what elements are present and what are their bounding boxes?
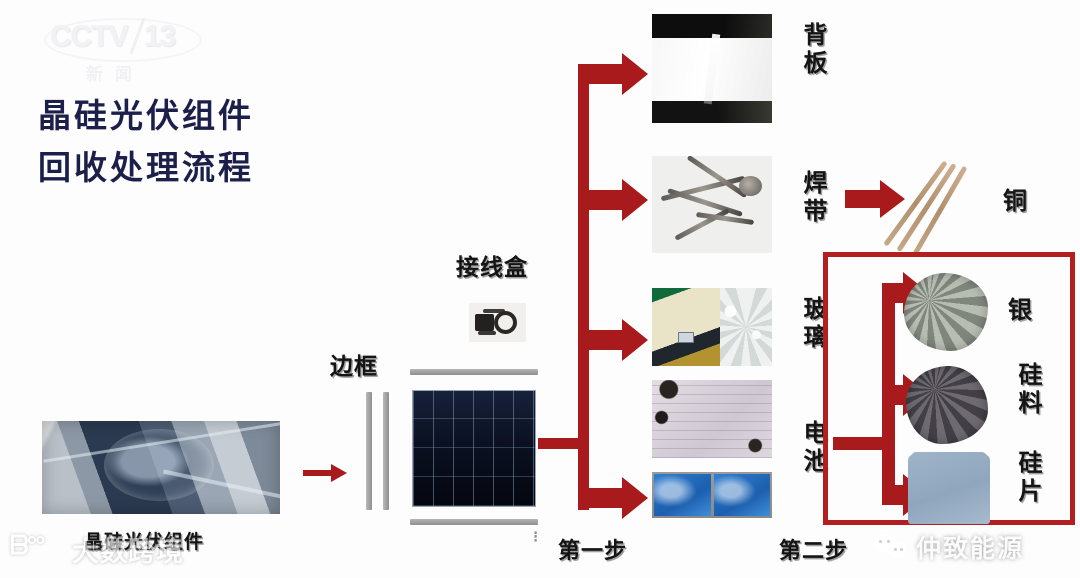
wechat-dot [887,540,890,543]
blue-cells-photo [652,472,772,518]
slide-canvas: CCTV 13 新闻 晶硅光伏组件 回收处理流程 晶硅光伏组件 [0,0,1080,578]
pv-module-photo [412,390,536,507]
watermark-left: ᗷ°° 大数跨境 [10,526,225,570]
frame-label: 边框 [330,347,378,381]
silicon-material-label: 硅料 [1010,362,1045,418]
wechat-dot [894,548,897,551]
copper-wire [883,160,948,246]
solder-ribbon-photo [652,156,772,253]
arrow-input-to-module [303,464,347,482]
junction-box-photo [469,303,526,342]
backsheet-photo [652,14,772,123]
watermark-left-logo: ᗷ°° [10,530,44,562]
jbox-body-detail [475,314,494,331]
step1-label: 第一步 [558,533,627,565]
solder-ribbon-label: 焊带 [795,170,830,226]
glass-sheet-detail [652,288,720,366]
ribbon-knot-detail [739,176,762,196]
frame-bar-right [383,392,389,510]
step2-label: 第二步 [779,533,848,565]
step1-branch-arrows [578,53,648,519]
watermark-right: 仲致能源 [873,530,1024,564]
junction-box-label: 接线盒 [456,248,528,282]
copper-wires-photo [893,158,985,248]
wechat-dot [900,548,903,551]
silicon-wafer-photo [908,452,990,524]
copper-label: 铜 [1003,181,1028,216]
frame-bar-left [366,392,372,510]
jbox-foot-detail [478,331,496,335]
backsheet-label: 背板 [795,22,830,78]
silicon-material-photo [906,366,988,444]
wechat-icon [873,534,907,561]
glass-photo [652,288,772,366]
backsheet-dark-bottom-detail [652,101,772,123]
watermark-left-text: 大数跨境 [72,530,184,569]
silver-granules-photo [904,273,988,351]
watermark-right-text: 仲致能源 [916,529,1024,565]
blue-cell-left [654,474,711,516]
cell-sheet-photo [652,380,772,458]
silicon-wafer-label: 硅片 [1010,450,1045,506]
jbox-cable-ring-detail [494,311,517,334]
frame-bar-top [410,369,538,375]
crushed-glass-detail [720,288,772,366]
silver-label: 银 [1008,290,1033,325]
glass-chip-detail [678,332,694,343]
ellipsis-mark: ⋮ [529,533,542,540]
frame-bar-bottom [410,519,538,525]
wechat-dot [879,540,882,543]
blue-cell-right [714,474,771,516]
